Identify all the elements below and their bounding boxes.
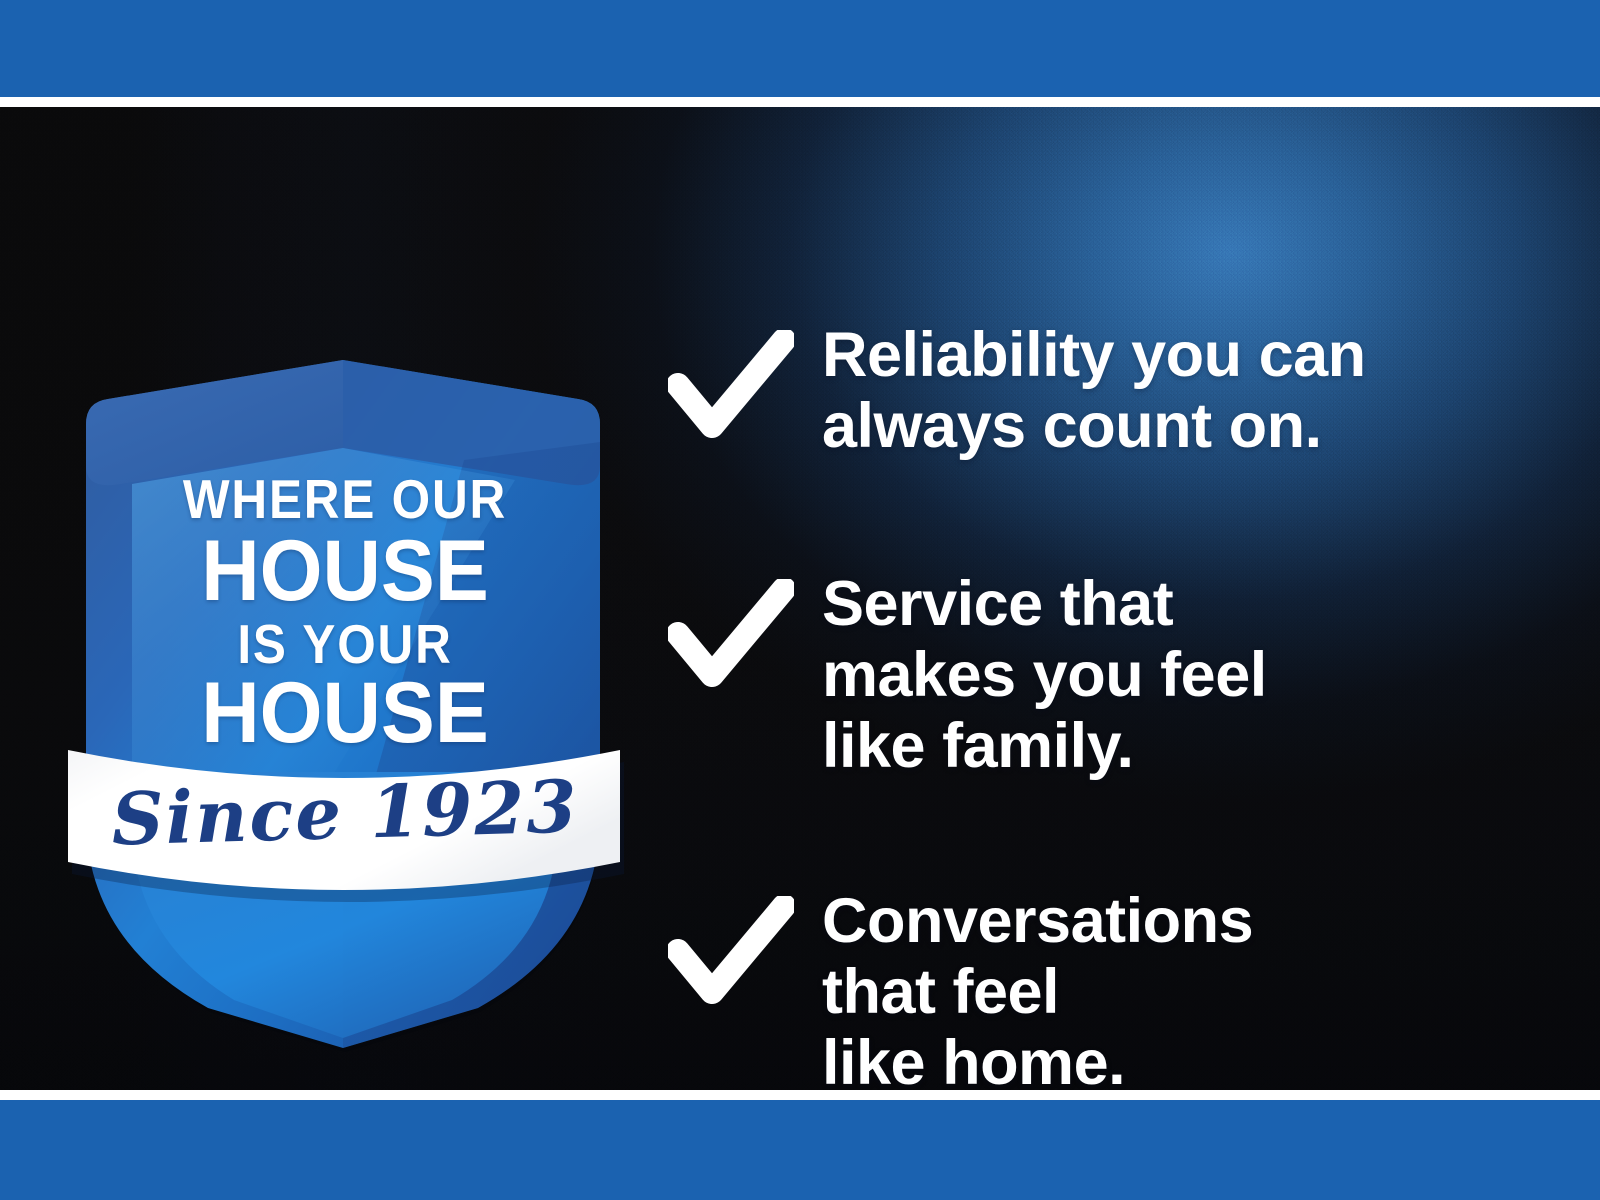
list-item-label: Conversations that feel like home. xyxy=(822,886,1253,1090)
main-stage: Where our House is your House Since 1923… xyxy=(0,107,1600,1090)
badge-line-house-2: House xyxy=(77,664,613,763)
bottom-brand-bar xyxy=(0,1100,1600,1200)
list-item: Service that makes you feel like family. xyxy=(668,569,1267,783)
list-item-label: Reliability you can always count on. xyxy=(822,320,1366,462)
badge-ribbon-since-text: Since 1923 xyxy=(59,762,631,863)
list-item: Conversations that feel like home. xyxy=(668,886,1253,1090)
list-item-label: Service that makes you feel like family. xyxy=(822,569,1267,783)
promo-graphic: Where our House is your House Since 1923… xyxy=(0,0,1600,1200)
badge-line-house-1: House xyxy=(77,522,613,621)
top-brand-bar xyxy=(0,0,1600,97)
checkmark-icon xyxy=(668,320,796,450)
shield-badge: Where our House is your House Since 1923 xyxy=(60,252,630,1052)
checkmark-icon xyxy=(668,569,796,699)
checkmark-icon xyxy=(668,886,796,1016)
benefits-list: Reliability you can always count on. Ser… xyxy=(668,214,1548,1090)
list-item: Reliability you can always count on. xyxy=(668,320,1366,462)
